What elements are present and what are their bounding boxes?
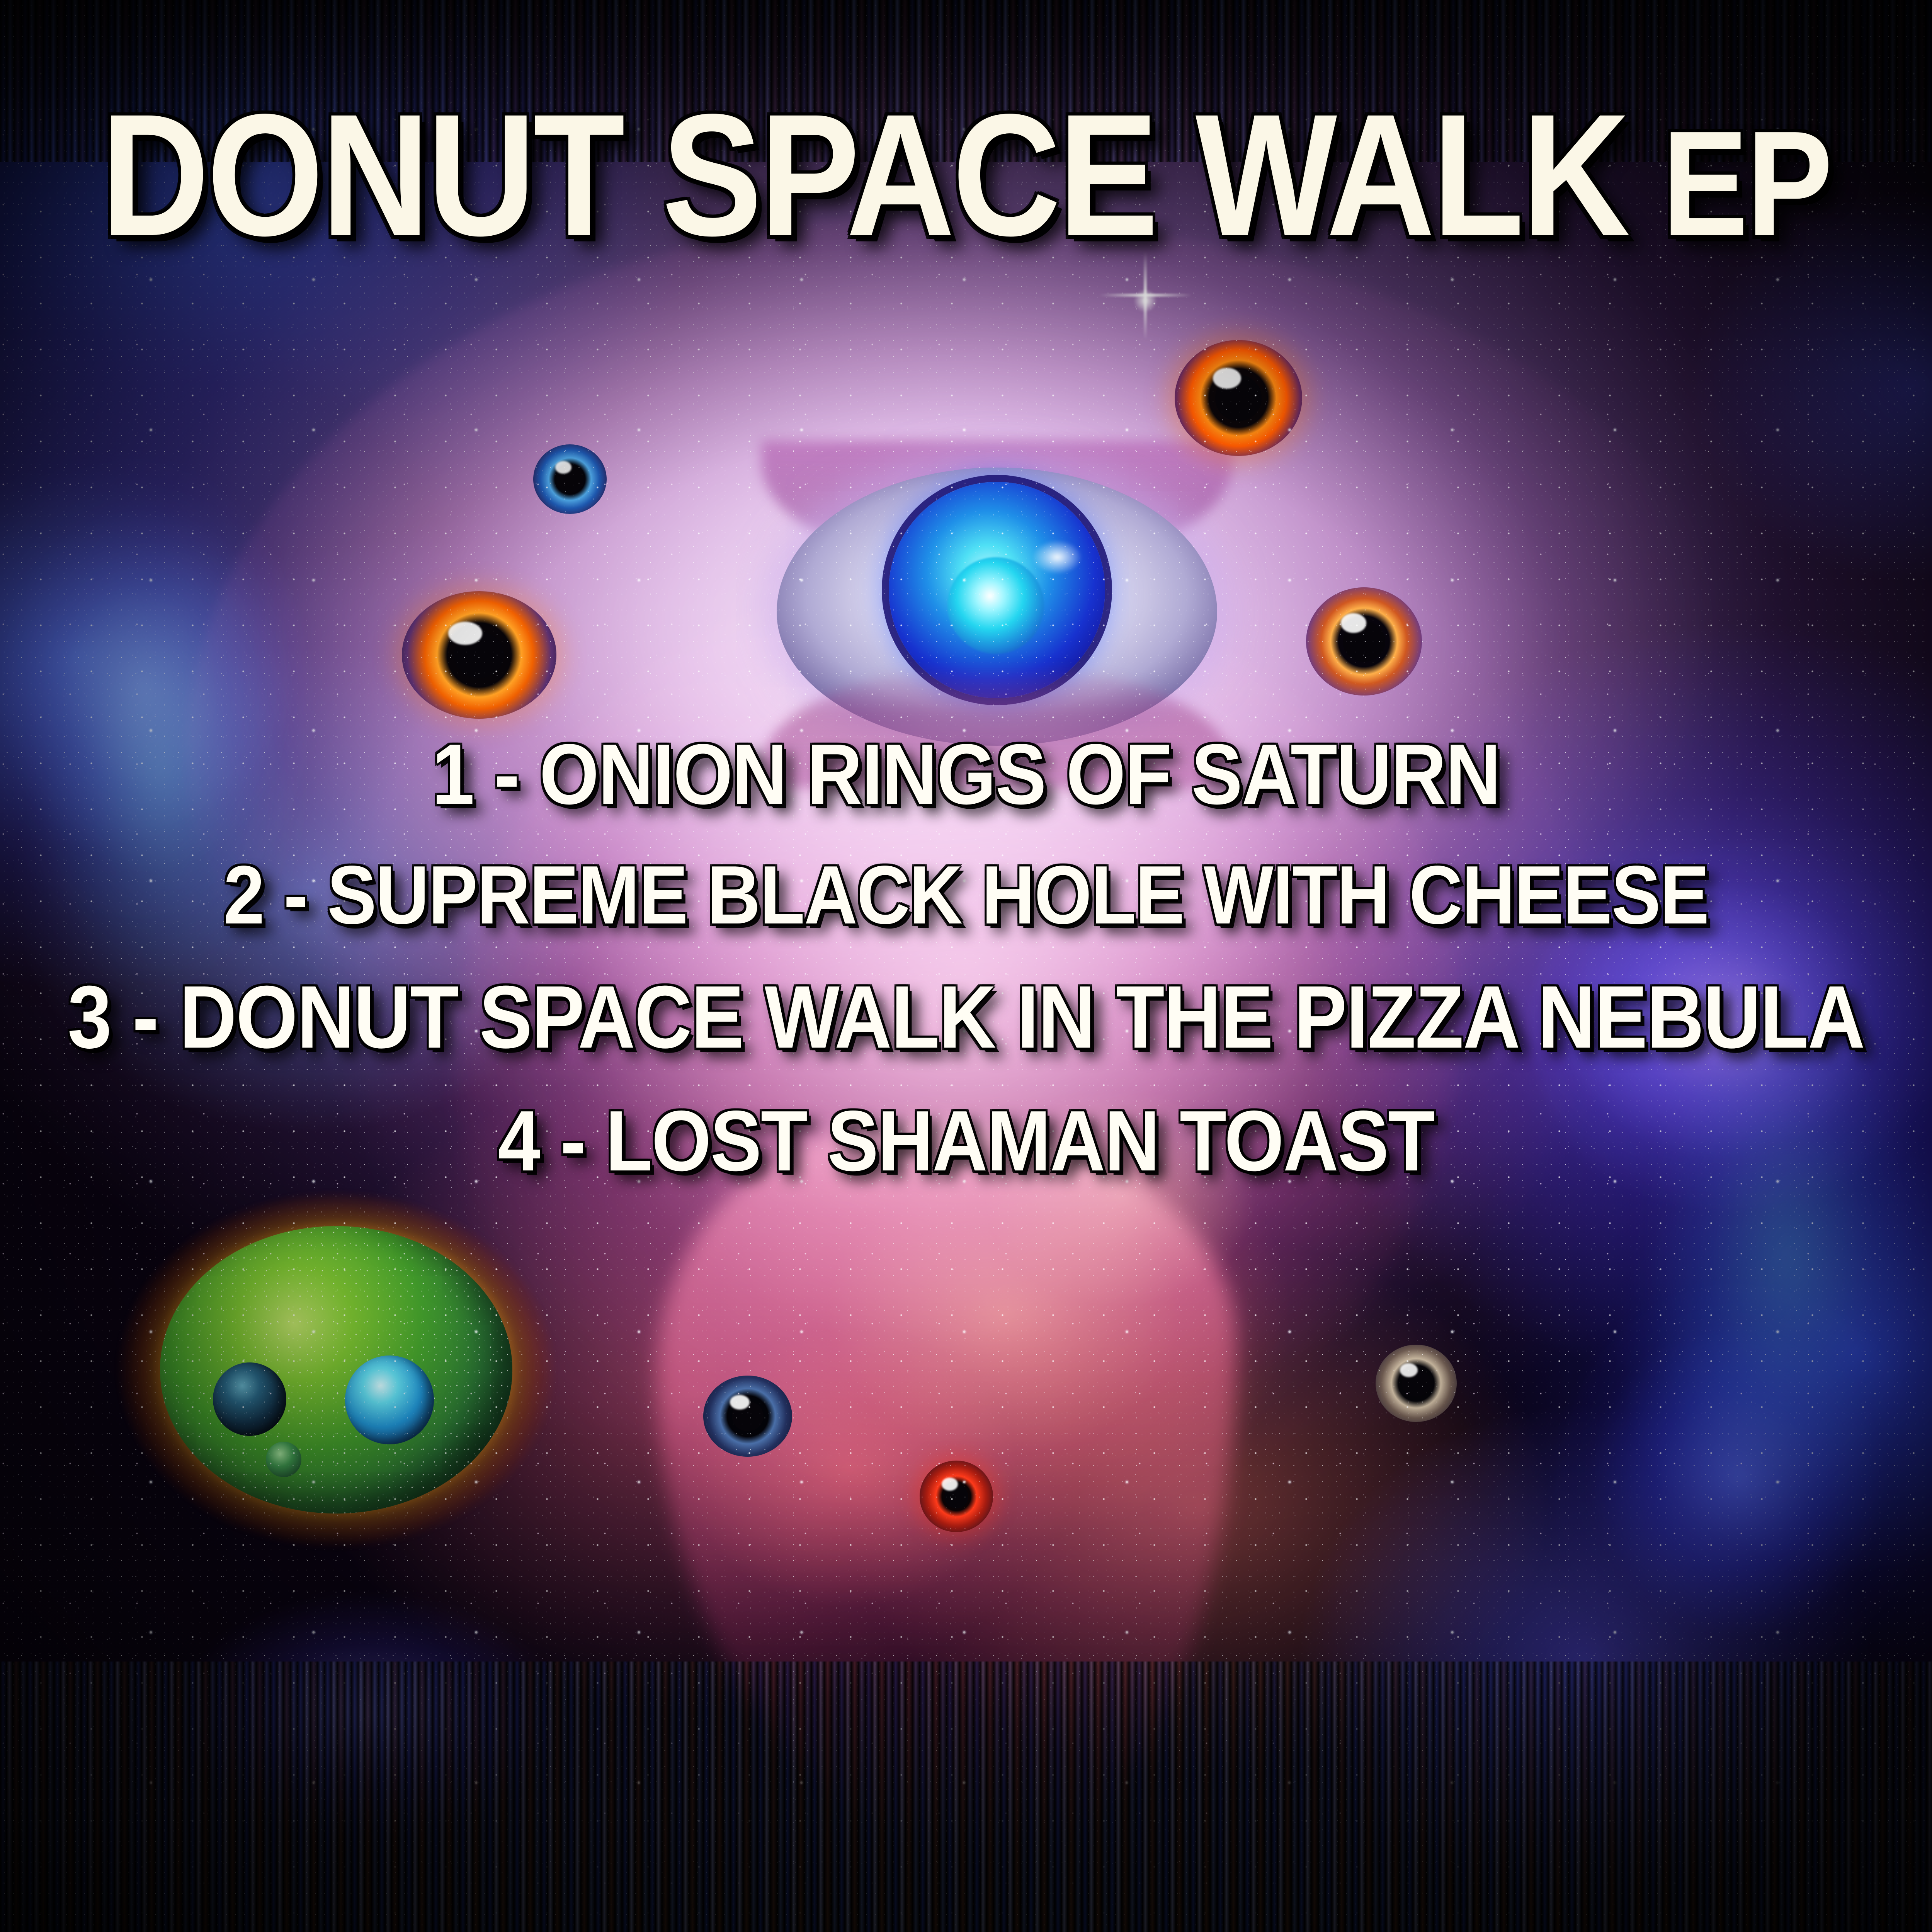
iris-ring [402,591,556,719]
eye-glint [1032,540,1082,575]
grain-overlay [0,0,1932,1932]
blue-creature-right-lower [1553,1283,1932,1708]
eye-upper-lid [761,440,1233,572]
iris-ring [703,1376,792,1457]
specular-highlight [1213,368,1241,389]
planet-ring [116,1190,556,1549]
dream-eye-blue-small [533,444,607,514]
eye-sclera [777,468,1217,746]
specular-highlight [730,1395,750,1410]
nebula-magenta [0,0,1932,1932]
pupil [732,1401,764,1431]
specular-highlight [448,622,482,645]
dream-eye-cream-mid-right [1376,1345,1457,1422]
iris-ring [1376,1345,1457,1422]
nebula-blue-right [0,0,1932,1932]
bright-star-core [1134,289,1157,312]
planet-star-specks [160,1226,512,1514]
pupil [556,466,583,493]
deep-space-background [0,0,1932,1932]
specular-highlight [1400,1363,1418,1377]
planet-orb-blue [345,1355,434,1444]
blue-creature-bottom-left [147,1592,611,1901]
nebula-blue-left [0,0,1932,1932]
starfield-mid [0,0,1932,1932]
pupil [1215,375,1262,421]
specular-highlight [942,1478,958,1490]
specular-highlight [1341,613,1366,633]
central-cosmic-eye-icon [777,468,1217,746]
green-ringed-planet-icon [116,1190,556,1549]
pupil [1343,621,1385,662]
album-title-ep-suffix: EP [1628,100,1831,267]
planet-orb-dark [213,1362,286,1436]
tracklist-item-2: 2 - SUPREME BLACK HOLE WITH CHEESE [223,854,1708,937]
dream-eye-violet-right [1306,587,1422,696]
tracklist-item-4: 4 - LOST SHAMAN TOAST [498,1098,1434,1184]
vignette [0,0,1932,1932]
tracklist-item-1: 1 - ONION RINGS OF SATURN [432,731,1500,817]
album-title-main: DONUT SPACE WALK [101,78,1628,272]
tracklist-item-3: 3 - DONUT SPACE WALK IN THE PIZZA NEBULA [68,973,1864,1062]
eye-iris [889,482,1105,698]
iris-ring [533,444,607,514]
tracklist: 1 - ONION RINGS OF SATURN 2 - SUPREME BL… [0,736,1932,1180]
specular-highlight [555,461,571,473]
planet-orb-small [266,1442,301,1477]
iris-ring [920,1461,993,1532]
pupil [1402,1370,1430,1397]
starfield-fine [0,0,1932,1932]
nebula-warm-core [0,0,1932,1932]
dream-eye-orange-top-right [1175,340,1302,456]
album-cover: DONUT SPACE WALK EP 1 - ONION RINGS OF S… [0,0,1932,1932]
album-title: DONUT SPACE WALK EP [0,88,1932,262]
iris-ring [1175,340,1302,456]
dream-eye-red-lower-center [920,1461,993,1532]
starfield-coarse [0,0,1932,1932]
pupil [944,1485,968,1509]
eye-pupil-swirl [947,557,1044,654]
dream-eye-dark-bottom-left [703,1376,792,1457]
planet-body [160,1226,512,1514]
pupil [454,632,504,678]
dream-drip-tentacle [657,1121,1236,1855]
text-stack: DONUT SPACE WALK EP 1 - ONION RINGS OF S… [0,0,1932,1932]
iris-ring [1306,587,1422,696]
bottom-smear-band [0,1662,1932,1932]
dream-eye-orange-mid-left [402,591,556,719]
